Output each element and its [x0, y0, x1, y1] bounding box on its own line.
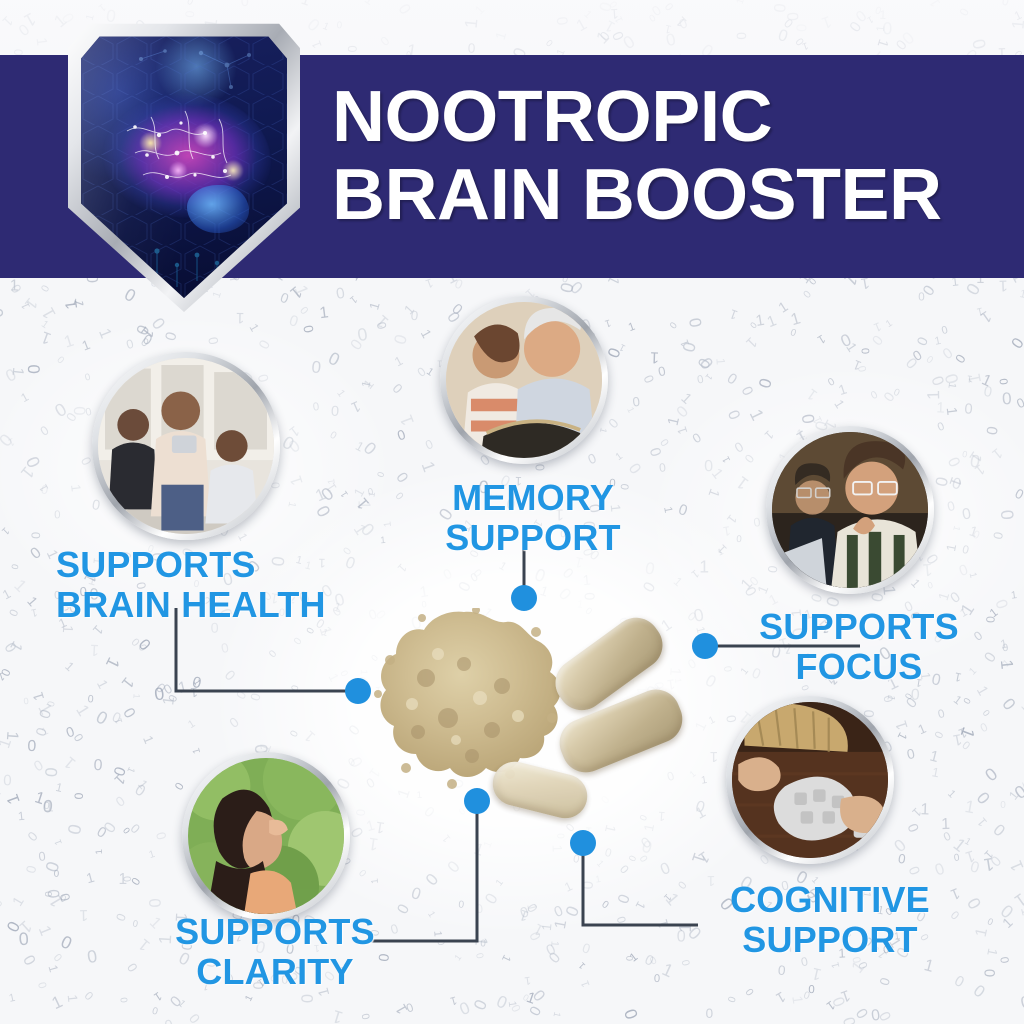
svg-text:1: 1 [879, 8, 887, 22]
svg-text:1: 1 [700, 774, 708, 787]
svg-text:1: 1 [35, 923, 55, 938]
svg-text:0: 0 [329, 428, 340, 441]
svg-text:0: 0 [423, 437, 435, 453]
svg-text:1: 1 [3, 792, 24, 807]
svg-text:0: 0 [58, 931, 76, 953]
svg-text:1: 1 [633, 899, 649, 912]
svg-text:1: 1 [524, 902, 540, 912]
svg-text:1: 1 [301, 727, 319, 745]
svg-text:1: 1 [148, 849, 157, 861]
svg-text:0: 0 [580, 881, 597, 890]
svg-text:0: 0 [53, 869, 59, 880]
svg-text:0: 0 [132, 781, 149, 800]
svg-text:0: 0 [742, 987, 755, 999]
svg-text:1: 1 [89, 641, 99, 659]
svg-text:1: 1 [788, 995, 805, 1005]
svg-text:0: 0 [940, 324, 949, 337]
feature-label-clarity: SUPPORTS CLARITY [160, 912, 390, 992]
svg-text:1: 1 [54, 780, 64, 795]
svg-text:1: 1 [975, 815, 990, 829]
svg-text:1: 1 [916, 721, 929, 738]
svg-text:1: 1 [788, 308, 802, 329]
svg-text:0: 0 [40, 482, 49, 497]
svg-text:0: 0 [1001, 0, 1011, 9]
svg-text:1: 1 [176, 678, 189, 697]
svg-text:0: 0 [343, 552, 357, 572]
svg-text:1: 1 [524, 974, 532, 987]
svg-text:0: 0 [132, 917, 139, 929]
svg-text:0: 0 [968, 37, 990, 51]
svg-text:1: 1 [318, 303, 329, 322]
feature-photo-clarity [182, 752, 350, 920]
svg-text:0: 0 [794, 24, 810, 33]
svg-text:1: 1 [603, 317, 612, 329]
svg-text:1: 1 [191, 746, 203, 755]
svg-text:1: 1 [713, 358, 727, 366]
svg-text:0: 0 [291, 635, 304, 647]
svg-text:0: 0 [946, 498, 957, 514]
svg-text:0: 0 [359, 1013, 372, 1021]
svg-text:0: 0 [172, 780, 186, 792]
svg-text:0: 0 [298, 304, 311, 316]
svg-text:1: 1 [334, 388, 347, 400]
svg-text:0: 0 [162, 330, 181, 342]
svg-text:1: 1 [594, 858, 606, 869]
svg-text:0: 0 [998, 378, 1011, 385]
svg-text:0: 0 [918, 289, 925, 302]
svg-text:1: 1 [552, 918, 570, 930]
svg-text:1: 1 [721, 454, 734, 464]
svg-text:0: 0 [84, 372, 92, 384]
svg-text:0: 0 [890, 835, 909, 856]
svg-text:0: 0 [38, 423, 52, 439]
svg-text:0: 0 [646, 446, 665, 459]
svg-text:1: 1 [382, 520, 394, 527]
svg-text:0: 0 [467, 41, 476, 56]
svg-text:1: 1 [710, 748, 718, 765]
svg-text:1: 1 [492, 29, 510, 41]
svg-text:0: 0 [808, 982, 815, 994]
svg-text:1: 1 [989, 444, 1005, 462]
svg-text:1: 1 [1005, 858, 1024, 875]
brain-shield-badge [68, 22, 300, 312]
svg-text:1: 1 [94, 677, 112, 691]
svg-text:1: 1 [497, 560, 509, 573]
svg-text:0: 0 [182, 10, 197, 18]
svg-text:0: 0 [52, 951, 65, 964]
svg-text:1: 1 [895, 730, 911, 743]
svg-text:0: 0 [952, 351, 969, 365]
svg-text:1: 1 [186, 718, 197, 731]
svg-text:1: 1 [494, 877, 506, 888]
svg-text:0: 0 [984, 425, 1002, 436]
svg-text:0: 0 [962, 696, 974, 706]
svg-text:1: 1 [418, 327, 435, 341]
svg-text:1: 1 [392, 353, 405, 370]
svg-text:1: 1 [926, 0, 943, 10]
svg-text:0: 0 [475, 901, 484, 916]
svg-text:1: 1 [742, 333, 760, 351]
svg-text:0: 0 [63, 822, 85, 836]
svg-text:0: 0 [28, 532, 42, 539]
svg-text:0: 0 [335, 283, 346, 301]
svg-text:0: 0 [436, 939, 448, 946]
svg-text:1: 1 [33, 37, 50, 47]
svg-text:0: 0 [984, 616, 998, 623]
svg-text:0: 0 [685, 655, 698, 672]
svg-text:1: 1 [131, 693, 141, 699]
svg-text:0: 0 [771, 3, 790, 14]
svg-text:1: 1 [426, 909, 438, 919]
svg-text:1: 1 [30, 606, 38, 619]
svg-text:1: 1 [95, 326, 115, 341]
svg-text:0: 0 [303, 14, 323, 35]
svg-text:0: 0 [961, 505, 973, 523]
svg-text:0: 0 [19, 953, 38, 969]
svg-text:0: 0 [1000, 800, 1006, 811]
svg-text:1: 1 [396, 412, 418, 428]
svg-text:0: 0 [626, 459, 646, 477]
svg-text:0: 0 [70, 406, 88, 416]
svg-text:0: 0 [43, 891, 55, 897]
svg-text:1: 1 [366, 300, 382, 311]
svg-text:1: 1 [140, 733, 157, 746]
svg-text:0: 0 [0, 898, 5, 910]
svg-text:0: 0 [1013, 486, 1024, 503]
svg-text:0: 0 [963, 894, 985, 913]
svg-text:0: 0 [613, 892, 632, 906]
svg-text:0: 0 [390, 332, 411, 346]
svg-text:0: 0 [624, 956, 635, 961]
svg-text:1: 1 [395, 561, 410, 576]
svg-text:0: 0 [696, 372, 705, 385]
svg-text:0: 0 [807, 591, 825, 604]
svg-text:0: 0 [839, 1015, 859, 1024]
svg-text:1: 1 [8, 992, 16, 1005]
svg-text:1: 1 [336, 0, 353, 3]
svg-text:1: 1 [650, 348, 660, 365]
svg-text:1: 1 [735, 0, 747, 5]
svg-text:1: 1 [875, 25, 887, 32]
svg-text:1: 1 [449, 994, 458, 1007]
svg-text:1: 1 [62, 331, 76, 352]
svg-text:1: 1 [773, 988, 788, 1006]
svg-text:0: 0 [981, 764, 1001, 786]
svg-text:0: 0 [93, 757, 103, 774]
svg-text:1: 1 [941, 816, 951, 833]
feature-photo-memory [440, 296, 608, 464]
svg-text:0: 0 [905, 821, 923, 834]
svg-text:0: 0 [480, 938, 487, 949]
svg-text:1: 1 [309, 39, 325, 51]
svg-text:1: 1 [836, 380, 849, 398]
svg-text:0: 0 [620, 1006, 642, 1021]
svg-text:1: 1 [659, 959, 676, 981]
svg-text:0: 0 [22, 453, 44, 470]
svg-text:1: 1 [699, 557, 709, 577]
feature-label-brain-health: SUPPORTS BRAIN HEALTH [56, 545, 326, 625]
svg-text:0: 0 [617, 862, 632, 877]
svg-text:1: 1 [943, 543, 959, 553]
svg-text:1: 1 [65, 994, 81, 1003]
svg-text:0: 0 [1002, 389, 1012, 408]
svg-text:0: 0 [222, 666, 239, 683]
svg-text:0: 0 [394, 468, 413, 485]
svg-text:0: 0 [396, 0, 415, 17]
svg-text:1: 1 [661, 506, 674, 514]
svg-text:0: 0 [632, 394, 641, 410]
svg-text:0: 0 [440, 565, 454, 583]
svg-text:0: 0 [785, 12, 802, 22]
svg-text:1: 1 [359, 380, 373, 389]
svg-text:0: 0 [289, 729, 302, 739]
svg-text:0: 0 [731, 439, 746, 456]
svg-text:0: 0 [389, 921, 400, 937]
svg-text:1: 1 [707, 714, 717, 727]
svg-text:0: 0 [599, 899, 610, 911]
svg-text:0: 0 [6, 607, 20, 618]
svg-text:0: 0 [163, 1015, 175, 1024]
svg-text:1: 1 [46, 963, 61, 974]
svg-text:1: 1 [1008, 19, 1024, 30]
svg-text:1: 1 [746, 406, 768, 424]
svg-text:0: 0 [0, 306, 8, 320]
svg-text:1: 1 [0, 13, 16, 30]
svg-text:0: 0 [23, 696, 29, 707]
svg-text:0: 0 [38, 283, 51, 294]
svg-text:0: 0 [668, 320, 680, 332]
svg-text:0: 0 [614, 914, 629, 925]
svg-text:1: 1 [671, 574, 685, 589]
svg-text:0: 0 [124, 961, 141, 975]
svg-text:0: 0 [113, 912, 129, 924]
svg-text:0: 0 [87, 692, 94, 704]
svg-text:0: 0 [422, 870, 442, 890]
svg-text:0: 0 [753, 515, 762, 530]
svg-text:1: 1 [135, 935, 153, 955]
svg-text:0: 0 [119, 996, 131, 1003]
svg-text:1: 1 [800, 39, 809, 51]
svg-text:1: 1 [18, 389, 31, 405]
svg-text:0: 0 [1019, 991, 1024, 1013]
svg-text:1: 1 [928, 747, 940, 766]
svg-text:1: 1 [963, 796, 976, 817]
svg-text:1: 1 [247, 321, 263, 334]
svg-text:0: 0 [3, 771, 12, 788]
svg-text:1: 1 [804, 385, 821, 404]
svg-text:0: 0 [721, 665, 734, 672]
svg-text:0: 0 [241, 0, 250, 10]
svg-text:1: 1 [973, 926, 991, 938]
svg-text:0: 0 [185, 0, 195, 8]
shield-inner-scene [81, 35, 287, 298]
svg-text:0: 0 [725, 369, 741, 387]
svg-text:1: 1 [80, 337, 92, 354]
svg-text:0: 0 [952, 971, 968, 990]
svg-text:0: 0 [145, 898, 164, 908]
svg-text:0: 0 [877, 976, 893, 987]
svg-text:1: 1 [372, 311, 392, 332]
svg-text:1: 1 [654, 917, 673, 930]
svg-text:0: 0 [644, 558, 657, 578]
svg-text:0: 0 [777, 963, 787, 979]
svg-text:1: 1 [705, 486, 723, 499]
svg-text:0: 0 [226, 714, 241, 731]
svg-text:1: 1 [418, 583, 429, 601]
svg-text:1: 1 [431, 930, 443, 937]
svg-text:0: 0 [905, 745, 916, 762]
svg-text:0: 0 [789, 325, 798, 337]
svg-text:0: 0 [931, 729, 945, 740]
svg-text:1: 1 [982, 854, 995, 875]
svg-text:1: 1 [951, 525, 962, 532]
svg-text:1: 1 [831, 397, 847, 410]
svg-text:1: 1 [84, 869, 96, 887]
svg-text:0: 0 [838, 330, 854, 351]
svg-text:0: 0 [482, 890, 502, 907]
svg-text:0: 0 [726, 407, 745, 421]
svg-text:0: 0 [868, 388, 879, 401]
svg-text:0: 0 [680, 959, 693, 967]
svg-text:0: 0 [935, 419, 945, 433]
svg-text:1: 1 [665, 415, 683, 427]
title-line-1: NOOTROPIC [332, 78, 1005, 156]
svg-text:0: 0 [394, 901, 413, 917]
svg-text:0: 0 [54, 509, 61, 521]
svg-text:1: 1 [287, 473, 307, 487]
svg-text:1: 1 [931, 764, 941, 780]
svg-text:0: 0 [346, 45, 360, 52]
svg-text:0: 0 [153, 830, 169, 841]
svg-text:0: 0 [410, 308, 419, 324]
svg-text:1: 1 [923, 390, 943, 400]
svg-text:1: 1 [893, 718, 912, 732]
svg-text:1: 1 [243, 994, 255, 1004]
svg-text:0: 0 [580, 940, 592, 957]
svg-text:1: 1 [582, 572, 592, 589]
svg-text:1: 1 [973, 684, 991, 699]
svg-text:0: 0 [998, 694, 1020, 714]
svg-text:0: 0 [658, 859, 673, 879]
svg-text:1: 1 [1010, 589, 1018, 602]
svg-text:0: 0 [801, 288, 814, 301]
svg-text:0: 0 [532, 564, 548, 586]
svg-text:0: 0 [640, 579, 659, 595]
svg-text:1: 1 [0, 782, 2, 799]
svg-text:0: 0 [552, 16, 570, 27]
svg-text:1: 1 [722, 523, 732, 539]
svg-text:0: 0 [186, 1011, 204, 1024]
svg-text:1: 1 [829, 961, 842, 970]
svg-text:0: 0 [860, 348, 872, 355]
svg-text:0: 0 [980, 708, 992, 719]
svg-text:0: 0 [409, 883, 423, 903]
svg-text:0: 0 [641, 373, 658, 386]
svg-text:1: 1 [703, 372, 714, 382]
svg-text:1: 1 [79, 906, 88, 923]
svg-text:1: 1 [539, 923, 555, 932]
svg-text:1: 1 [688, 769, 698, 780]
svg-text:0: 0 [414, 364, 428, 379]
svg-text:1: 1 [755, 583, 772, 596]
svg-text:0: 0 [297, 994, 315, 1004]
svg-text:0: 0 [458, 899, 465, 911]
svg-text:1: 1 [349, 397, 364, 416]
svg-text:0: 0 [928, 374, 948, 388]
svg-text:0: 0 [1, 640, 20, 656]
svg-text:0: 0 [936, 706, 946, 721]
svg-text:0: 0 [755, 376, 776, 390]
svg-text:0: 0 [1014, 395, 1024, 412]
svg-text:1: 1 [945, 788, 958, 801]
svg-text:0: 0 [86, 946, 99, 967]
svg-text:0: 0 [81, 988, 96, 1003]
svg-text:1: 1 [3, 731, 22, 741]
svg-text:0: 0 [734, 31, 749, 40]
svg-text:1: 1 [10, 894, 28, 909]
svg-text:1: 1 [920, 800, 930, 818]
svg-text:1: 1 [728, 306, 740, 323]
svg-text:0: 0 [27, 738, 37, 755]
svg-text:0: 0 [997, 956, 1011, 965]
svg-text:0: 0 [676, 501, 689, 520]
svg-text:0: 0 [990, 530, 1006, 540]
feature-label-memory: MEMORY SUPPORT [433, 478, 633, 558]
svg-text:0: 0 [288, 684, 300, 692]
svg-text:1: 1 [60, 753, 79, 773]
svg-text:0: 0 [964, 399, 973, 416]
svg-text:0: 0 [72, 792, 86, 799]
svg-text:0: 0 [825, 375, 836, 388]
svg-text:0: 0 [357, 866, 369, 878]
svg-text:0: 0 [982, 384, 993, 401]
svg-text:1: 1 [595, 874, 602, 886]
title-line-2: BRAIN BOOSTER [332, 156, 1005, 234]
svg-text:1: 1 [472, 3, 487, 18]
svg-text:0: 0 [997, 509, 1018, 521]
svg-text:1: 1 [10, 576, 30, 596]
svg-text:1: 1 [810, 964, 823, 985]
svg-text:0: 0 [125, 337, 135, 352]
svg-text:0: 0 [311, 357, 322, 377]
svg-text:1: 1 [963, 846, 977, 865]
svg-text:0: 0 [25, 828, 41, 844]
svg-text:1: 1 [49, 992, 66, 1013]
svg-text:0: 0 [23, 864, 39, 874]
svg-text:1: 1 [44, 797, 54, 815]
svg-text:0: 0 [475, 951, 487, 959]
svg-text:0: 0 [93, 706, 111, 728]
svg-text:1: 1 [984, 947, 1000, 957]
svg-text:1: 1 [579, 979, 592, 989]
svg-text:0: 0 [312, 502, 334, 520]
svg-text:1: 1 [285, 500, 297, 508]
svg-text:0: 0 [454, 578, 473, 593]
svg-text:1: 1 [53, 838, 65, 847]
svg-text:0: 0 [925, 352, 936, 364]
svg-text:1: 1 [614, 451, 625, 463]
svg-text:0: 0 [892, 385, 902, 398]
svg-text:1: 1 [299, 0, 312, 10]
feature-photo-focus [766, 426, 934, 594]
svg-text:0: 0 [702, 670, 719, 691]
feature-photo-cognitive [726, 696, 894, 864]
svg-text:0: 0 [389, 381, 405, 397]
svg-text:0: 0 [914, 335, 932, 349]
svg-text:0: 0 [961, 543, 970, 557]
feature-photo-brain-health [92, 352, 280, 540]
svg-text:0: 0 [375, 471, 386, 479]
